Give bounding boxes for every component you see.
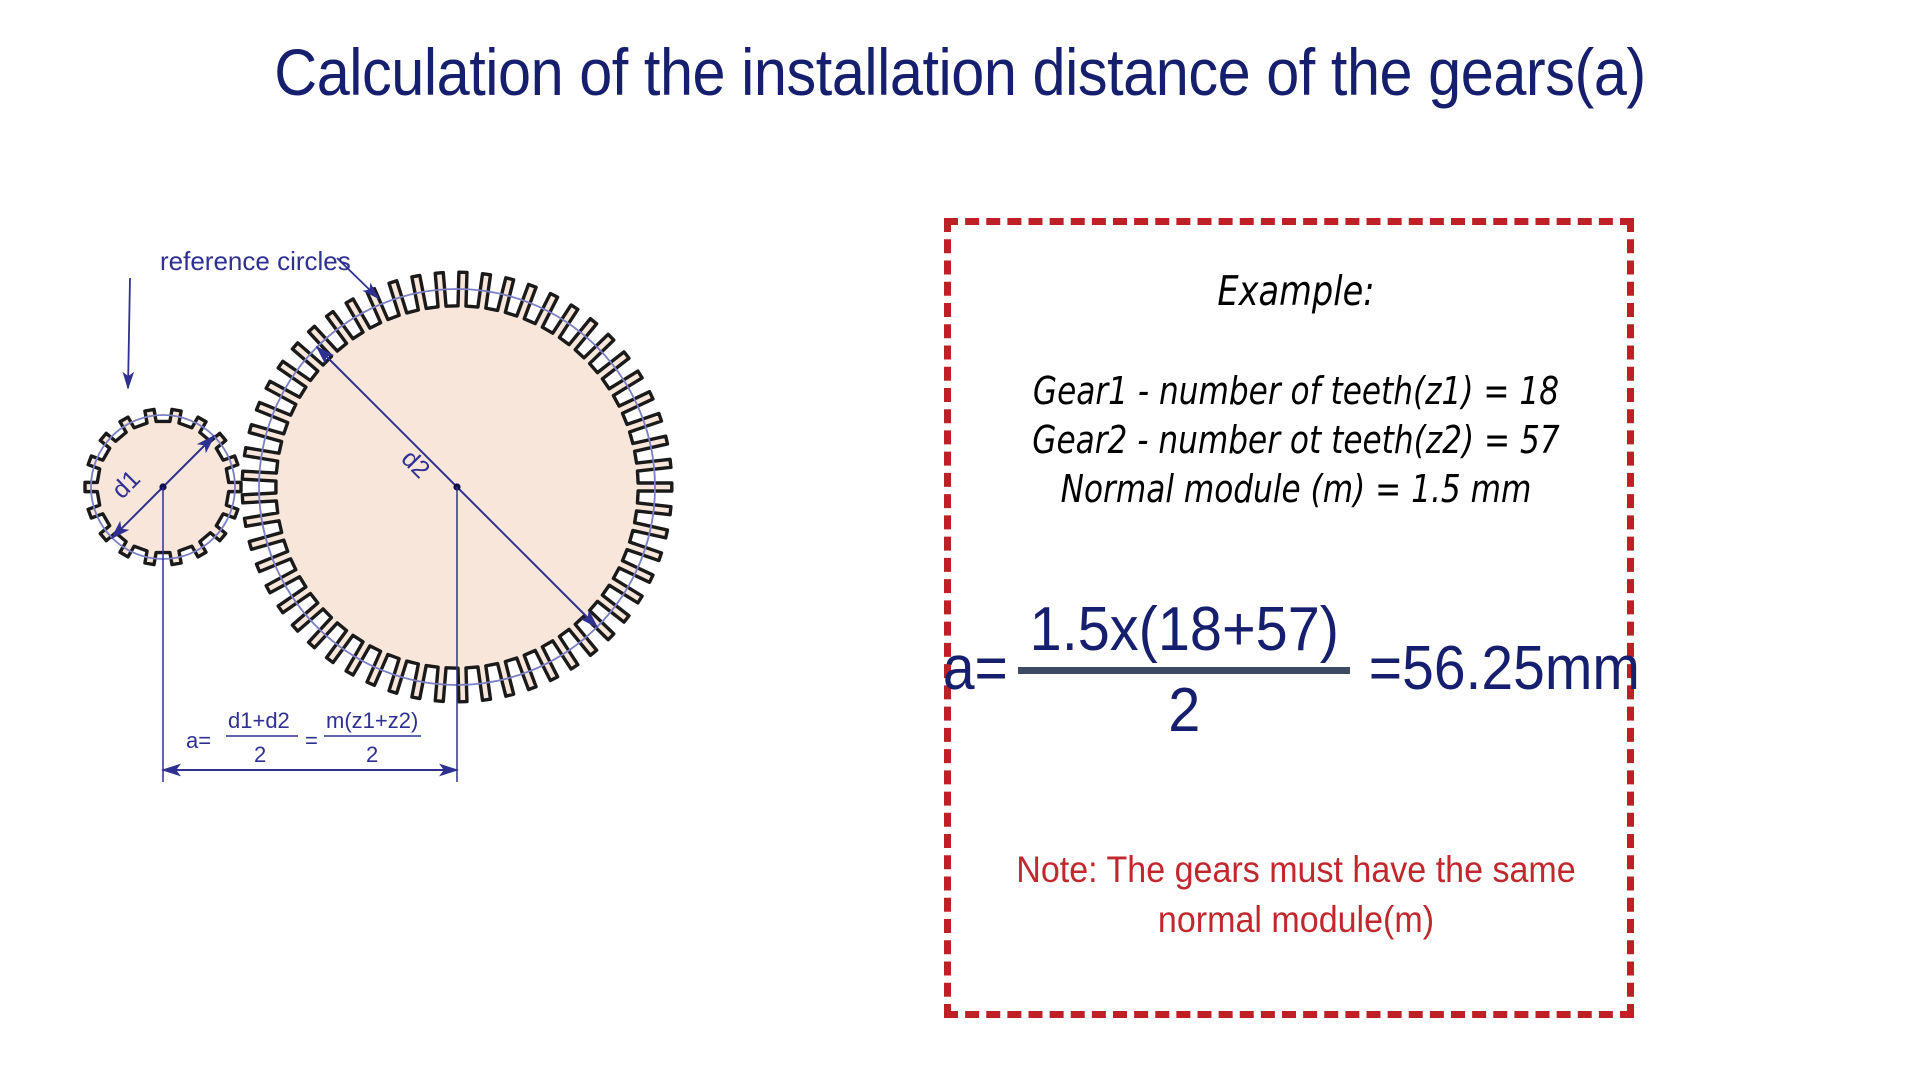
spec-line-module: Normal module (m) = 1.5 mm: [1013, 465, 1579, 514]
calc-lhs: a=: [943, 638, 1008, 704]
formula-frac1-numerator: d1+d2: [228, 708, 290, 733]
formula-frac2-denominator: 2: [366, 742, 378, 767]
formula-frac1-denominator: 2: [254, 742, 266, 767]
specification-list: Gear1 - number of teeth(z1) = 18 Gear2 -…: [951, 367, 1641, 514]
note-line-1: Note: The gears must have the same: [979, 845, 1614, 895]
calc-fraction: 1.5x(18+57) 2: [1018, 597, 1351, 745]
calc-result: =56.25mm: [1369, 638, 1640, 704]
note-line-2: normal module(m): [979, 895, 1614, 945]
formula-lhs: a=: [186, 728, 211, 753]
reference-circles-leader-left: [128, 278, 130, 388]
gear-diagram: d1 d2 reference circles a= d1+d2 2 = m(z…: [0, 170, 760, 1030]
spec-line-gear1: Gear1 - number of teeth(z1) = 18: [1013, 367, 1579, 416]
formula-equals: =: [305, 728, 318, 753]
calc-fraction-bar: [1018, 667, 1351, 674]
center-distance-formula: a= d1+d2 2 = m(z1+z2) 2: [186, 708, 421, 767]
note-text: Note: The gears must have the same norma…: [979, 845, 1614, 945]
spec-line-gear2: Gear2 - number ot teeth(z2) = 57: [1013, 416, 1579, 465]
example-box: Example: Gear1 - number of teeth(z1) = 1…: [944, 218, 1634, 1018]
example-heading: Example:: [1013, 267, 1579, 315]
calc-numerator: 1.5x(18+57): [1029, 597, 1338, 664]
reference-circles-leader-right: [337, 258, 378, 298]
page-title: Calculation of the installation distance…: [96, 34, 1824, 110]
calc-denominator: 2: [1168, 676, 1200, 745]
reference-circles-label: reference circles: [160, 246, 351, 276]
formula-frac2-numerator: m(z1+z2): [326, 708, 418, 733]
center-distance-calculation: a= 1.5x(18+57) 2 =56.25mm: [951, 597, 1641, 745]
